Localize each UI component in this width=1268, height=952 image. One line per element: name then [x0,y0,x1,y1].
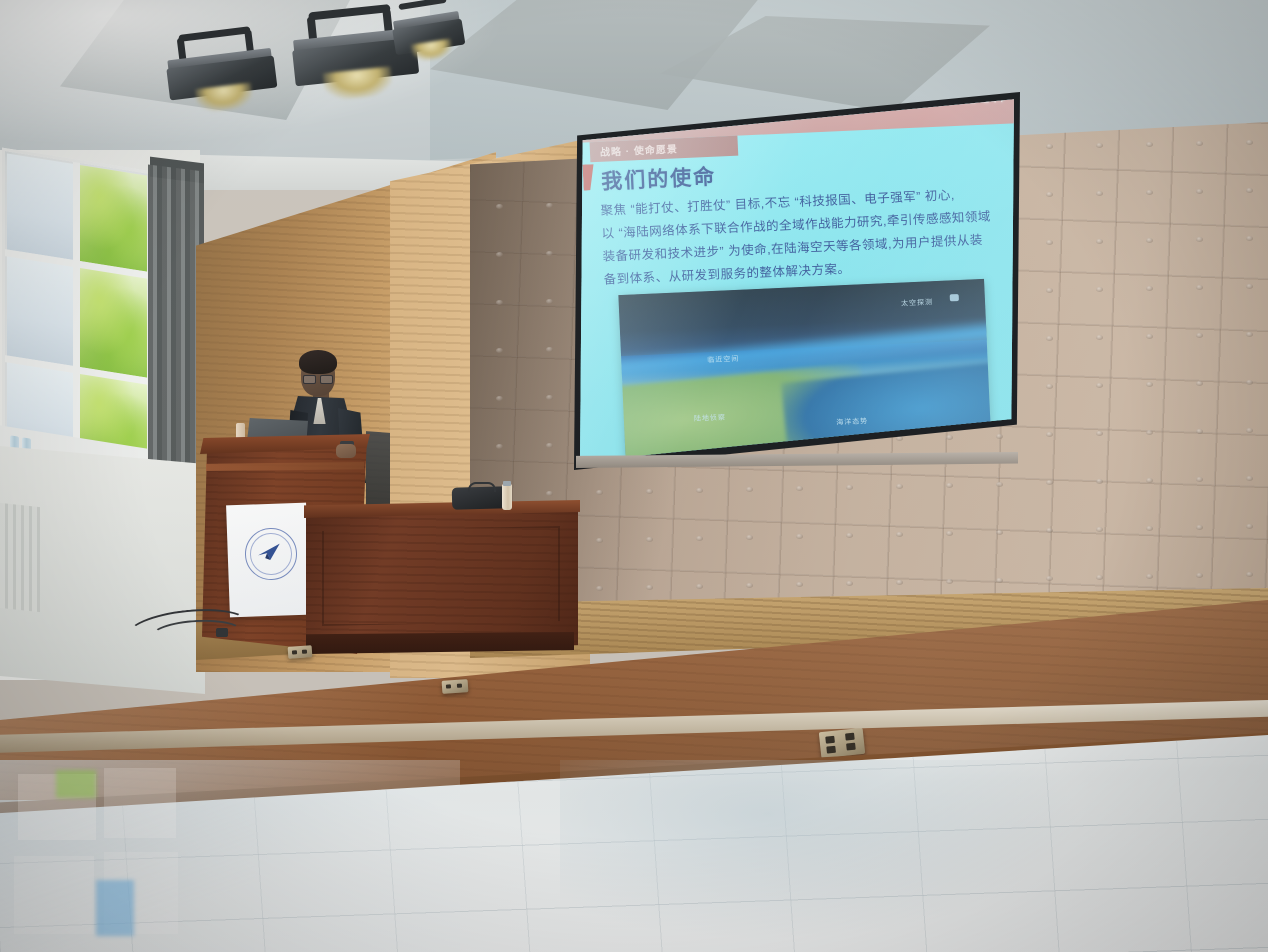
presentation-slide: 中国电科 战略 · 使命愿景 我们的使命 聚焦 “能打仗、打胜仗” 目标,不忘 … [580,97,1014,463]
acoustic-panel-button [696,584,703,589]
presenter-hand [336,444,356,458]
acoustic-panel-button [1246,476,1253,481]
floor-stage-reflection [560,760,1080,940]
stage-light-left [160,23,287,115]
acoustic-panel-button [596,490,603,495]
photo-scene: 中国电科 战略 · 使命愿景 我们的使命 聚焦 “能打仗、打胜仗” 目标,不忘 … [0,0,1268,952]
acoustic-panel-button [1246,428,1253,433]
acoustic-panel-button [1246,188,1253,193]
acoustic-panel-button [796,534,803,539]
window-pane-1 [7,153,73,259]
acoustic-panel-button [1146,430,1153,435]
acoustic-panel-button [546,251,553,256]
acoustic-panel-button [496,348,503,353]
acoustic-panel-button [496,252,503,257]
floor-socket-1[interactable] [288,645,313,659]
acoustic-panel-button [1146,334,1153,339]
acoustic-panel-button [1246,236,1253,241]
acoustic-panel-button [996,434,1003,439]
acoustic-panel-button [1196,285,1203,290]
radiator [0,503,40,612]
acoustic-panel-button [1146,238,1153,243]
acoustic-panel-button [646,489,653,494]
acoustic-panel-button [1196,477,1203,482]
acoustic-panel-button [546,491,553,496]
acoustic-panel-button [646,537,653,542]
acoustic-panel-button [996,578,1003,583]
acoustic-panel-button [546,299,553,304]
acoustic-panel-button [546,347,553,352]
acoustic-panel-button [946,435,953,440]
acoustic-panel-button [746,487,753,492]
acoustic-panel-button [946,579,953,584]
acoustic-panel-button [1146,478,1153,483]
acoustic-panel-button [1146,142,1153,147]
acoustic-panel-button [1096,383,1103,388]
acoustic-panel-button [496,396,503,401]
acoustic-panel-button [1246,380,1253,385]
acoustic-panel-button [1096,575,1103,580]
acoustic-panel-button [1096,143,1103,148]
window-mullion-vertical [73,162,80,471]
acoustic-panel-button [746,535,753,540]
acoustic-panel-button [1096,239,1103,244]
black-bag-handle [468,482,496,492]
acoustic-panel-button [996,530,1003,535]
acoustic-panel-button [846,533,853,538]
acoustic-panel-button [896,484,903,489]
presenter-hair [299,350,337,374]
floor-tree-reflection [56,770,96,798]
acoustic-panel-button [896,532,903,537]
acoustic-panel-button [846,581,853,586]
acoustic-panel-button [1096,479,1103,484]
acoustic-panel-button [1196,429,1203,434]
acoustic-panel-button [696,488,703,493]
acoustic-panel-button [646,585,653,590]
projection-screen[interactable]: 中国电科 战略 · 使命愿景 我们的使命 聚焦 “能打仗、打胜仗” 目标,不忘 … [580,97,1014,463]
acoustic-panel-button [946,483,953,488]
acoustic-panel-button [1196,381,1203,386]
acoustic-panel-button [1196,189,1203,194]
acoustic-panel-button [1246,284,1253,289]
acoustic-panel-button [1046,144,1053,149]
window-pane-4 [79,267,147,378]
window-pane-3 [7,255,73,365]
acoustic-panel-button [596,586,603,591]
acoustic-panel-button [496,204,503,209]
acoustic-panel-button [1196,573,1203,578]
acoustic-panel-button [1046,240,1053,245]
acoustic-panel-button [1196,141,1203,146]
acoustic-panel-button [496,444,503,449]
acoustic-panel-button [496,300,503,305]
acoustic-panel-button [1096,431,1103,436]
acoustic-panel-button [1096,287,1103,292]
acoustic-panel-button [1146,574,1153,579]
acoustic-panel-button [1146,526,1153,531]
acoustic-panel-button [1246,524,1253,529]
acoustic-panel-button [546,395,553,400]
acoustic-panel-button [546,443,553,448]
window-pane-2 [79,165,147,272]
table-water-bottle [502,484,512,510]
acoustic-panel-button [846,485,853,490]
acoustic-panel-button [546,203,553,208]
university-emblem-arrow-icon [256,542,285,563]
acoustic-panel-button [1096,191,1103,196]
acoustic-panel-button [1046,432,1053,437]
acoustic-panel-button [1196,525,1203,530]
acoustic-panel-button [1146,286,1153,291]
acoustic-panel-button [1146,382,1153,387]
acoustic-panel-button [746,583,753,588]
acoustic-panel-button [996,482,1003,487]
acoustic-panel-button [596,538,603,543]
acoustic-panel-button [946,531,953,536]
cable-connector [216,628,228,637]
acoustic-panel-button [1046,576,1053,581]
acoustic-panel-button [796,582,803,587]
table-water-bottle-cap [503,481,511,486]
acoustic-panel-button [1096,527,1103,532]
acoustic-panel-button [1246,140,1253,145]
acoustic-panel-button [1046,384,1053,389]
floor-socket-2[interactable] [442,679,469,694]
acoustic-panel-button [1196,333,1203,338]
acoustic-panel-button [1046,288,1053,293]
acoustic-panel-button [796,486,803,491]
floor-socket-3[interactable] [819,728,865,758]
presenter-glasses [303,375,333,382]
acoustic-panel-button [1196,237,1203,242]
stage-light-right [388,0,471,67]
acoustic-panel-button [1246,332,1253,337]
acoustic-panel-button [1046,528,1053,533]
floor-sky-reflection [96,880,134,936]
acoustic-panel-button [1096,335,1103,340]
slide-projection-sheen [580,97,1014,463]
acoustic-panel-button [1046,480,1053,485]
head-table-panel-inset [322,526,560,626]
acoustic-panel-button [1046,336,1053,341]
acoustic-panel-button [696,536,703,541]
side-panel [366,431,390,513]
acoustic-panel-button [1246,572,1253,577]
acoustic-panel-button [1146,190,1153,195]
acoustic-panel-button [896,580,903,585]
acoustic-panel-button [1046,192,1053,197]
